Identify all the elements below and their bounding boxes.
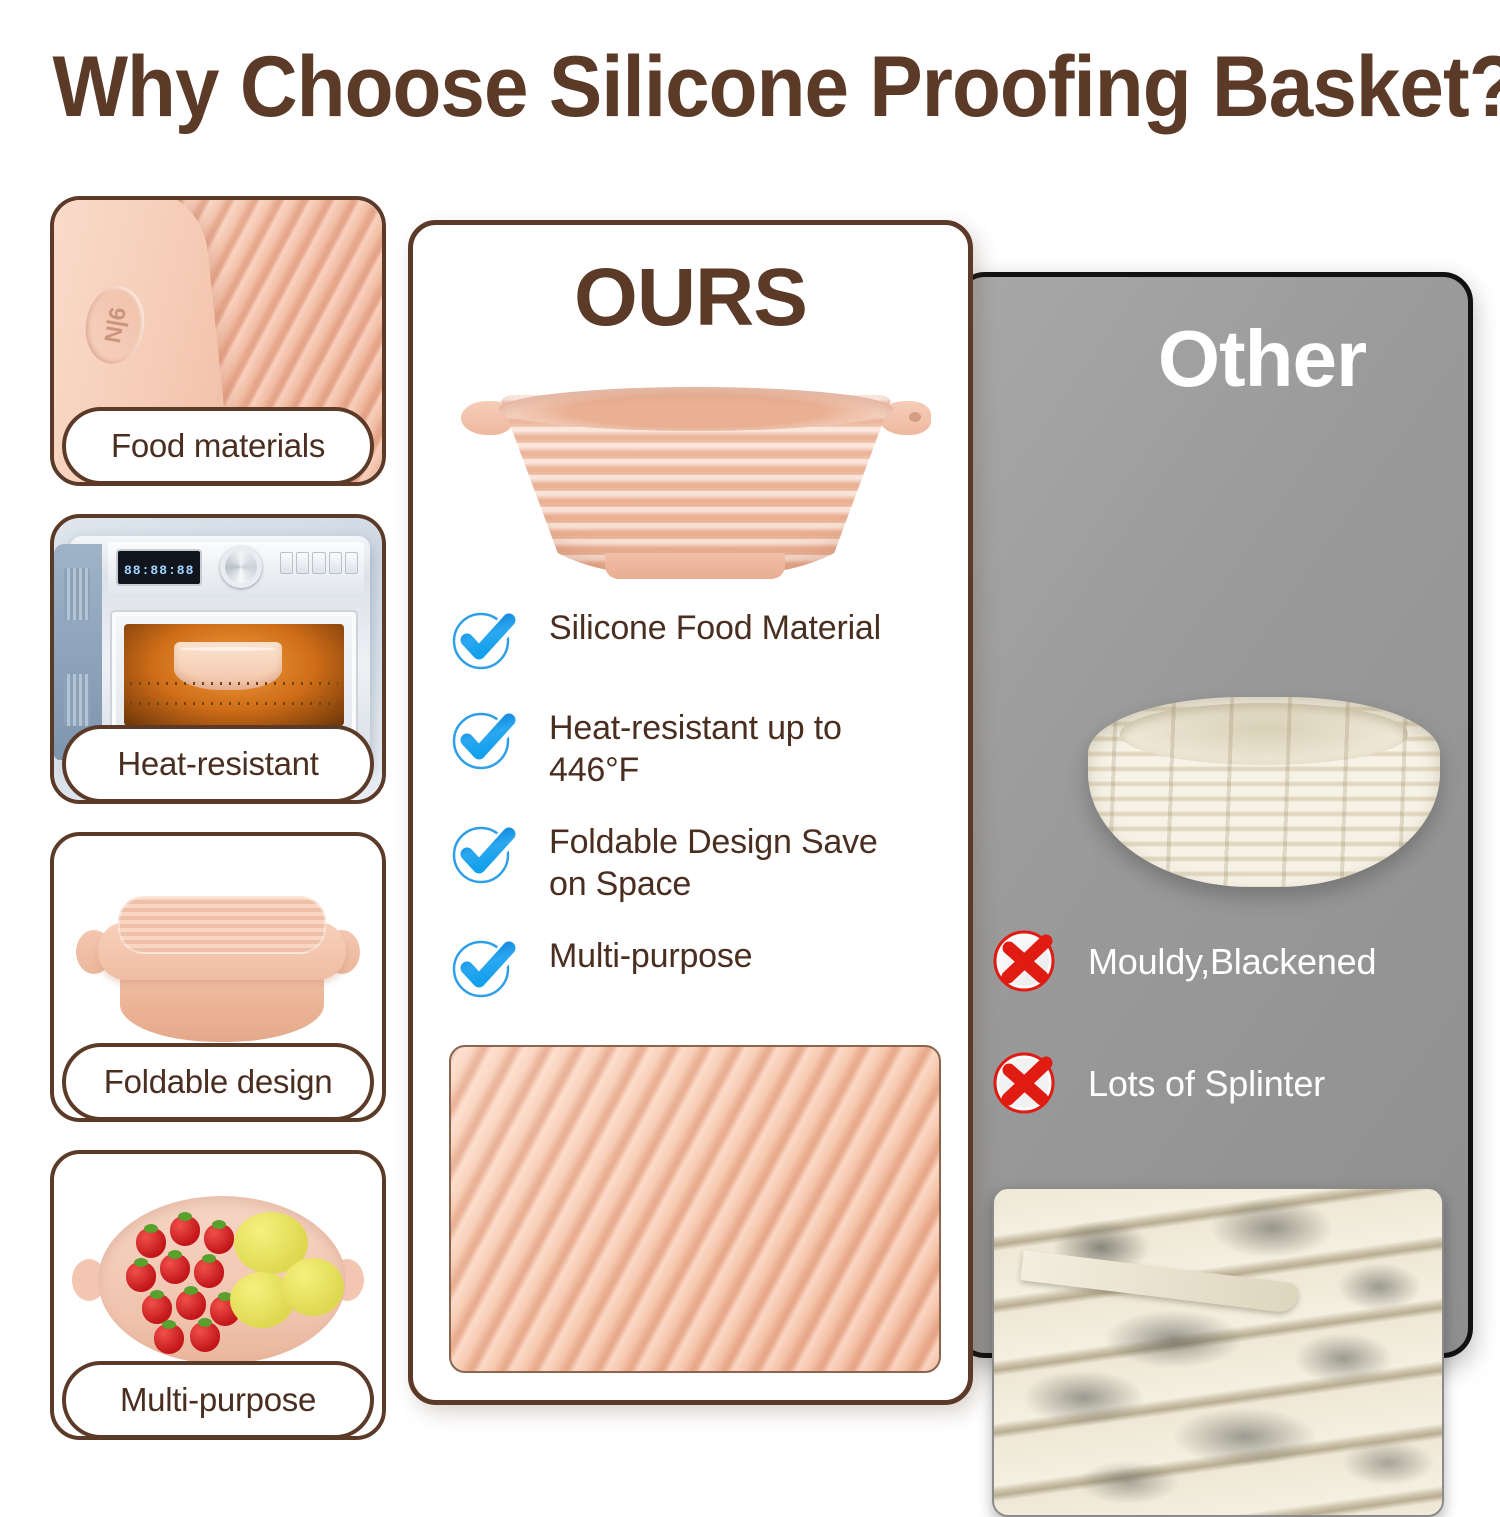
feature-sidebar: N|6 Food materials 88:88:88 xyxy=(50,196,386,1468)
sidebar-card-label: Multi-purpose xyxy=(120,1381,316,1419)
drawback-label: Mouldy,Blackened xyxy=(1088,941,1376,983)
sidebar-card-label: Foldable design xyxy=(104,1063,333,1101)
drawback-row: Lots of Splinter xyxy=(990,1047,1460,1121)
sidebar-card-label-pill: Food materials xyxy=(62,407,374,485)
feature-row: Silicone Food Material xyxy=(449,603,949,677)
other-panel-title: Other xyxy=(960,313,1468,405)
oven-knob-icon xyxy=(220,546,262,588)
feature-label: Silicone Food Material xyxy=(549,607,881,649)
feature-row: Heat-resistant up to 446°F xyxy=(449,703,949,791)
sidebar-card-label-pill: Foldable design xyxy=(62,1043,374,1121)
sidebar-card-foldable-design[interactable]: Foldable design xyxy=(50,832,386,1122)
check-icon xyxy=(449,703,523,777)
feature-label: Multi-purpose xyxy=(549,935,752,977)
sidebar-card-multi-purpose[interactable]: Multi-purpose xyxy=(50,1150,386,1440)
feature-row: Foldable Design Save on Space xyxy=(449,817,949,905)
check-icon xyxy=(449,603,523,677)
silicone-texture-image xyxy=(449,1045,941,1373)
ours-feature-list: Silicone Food Material Heat-resistant up… xyxy=(449,603,949,1031)
feature-label: Foldable Design Save on Space xyxy=(549,821,919,905)
sidebar-card-label-pill: Heat-resistant xyxy=(62,725,374,803)
page-title: Why Choose Silicone Proofing Basket? xyxy=(53,38,1448,137)
x-icon xyxy=(990,1047,1064,1121)
sidebar-card-food-materials[interactable]: N|6 Food materials xyxy=(50,196,386,486)
sidebar-card-label: Heat-resistant xyxy=(117,745,318,783)
x-icon xyxy=(990,925,1064,999)
feature-row: Multi-purpose xyxy=(449,931,949,1005)
sidebar-card-heat-resistant[interactable]: 88:88:88 Heat-resistant xyxy=(50,514,386,804)
oven-buttons xyxy=(280,552,358,574)
check-icon xyxy=(449,931,523,1005)
oven-display: 88:88:88 xyxy=(116,549,202,586)
sidebar-card-label: Food materials xyxy=(111,427,325,465)
check-icon xyxy=(449,817,523,891)
drawback-row: Mouldy,Blackened xyxy=(990,925,1460,999)
ours-comparison-panel: OURS Silic xyxy=(408,220,973,1405)
silicone-basket-image xyxy=(455,377,937,593)
other-drawback-list: Mouldy,Blackened Lots of Splinter xyxy=(990,925,1460,1169)
rattan-basket-image xyxy=(1088,697,1440,887)
drawback-label: Lots of Splinter xyxy=(1088,1063,1325,1105)
feature-label: Heat-resistant up to 446°F xyxy=(549,707,879,791)
other-comparison-panel: Other Mouldy,Blackened xyxy=(955,272,1473,1358)
sidebar-card-label-pill: Multi-purpose xyxy=(62,1361,374,1439)
mouldy-rattan-photo xyxy=(992,1187,1444,1517)
ours-panel-title: OURS xyxy=(413,251,968,345)
